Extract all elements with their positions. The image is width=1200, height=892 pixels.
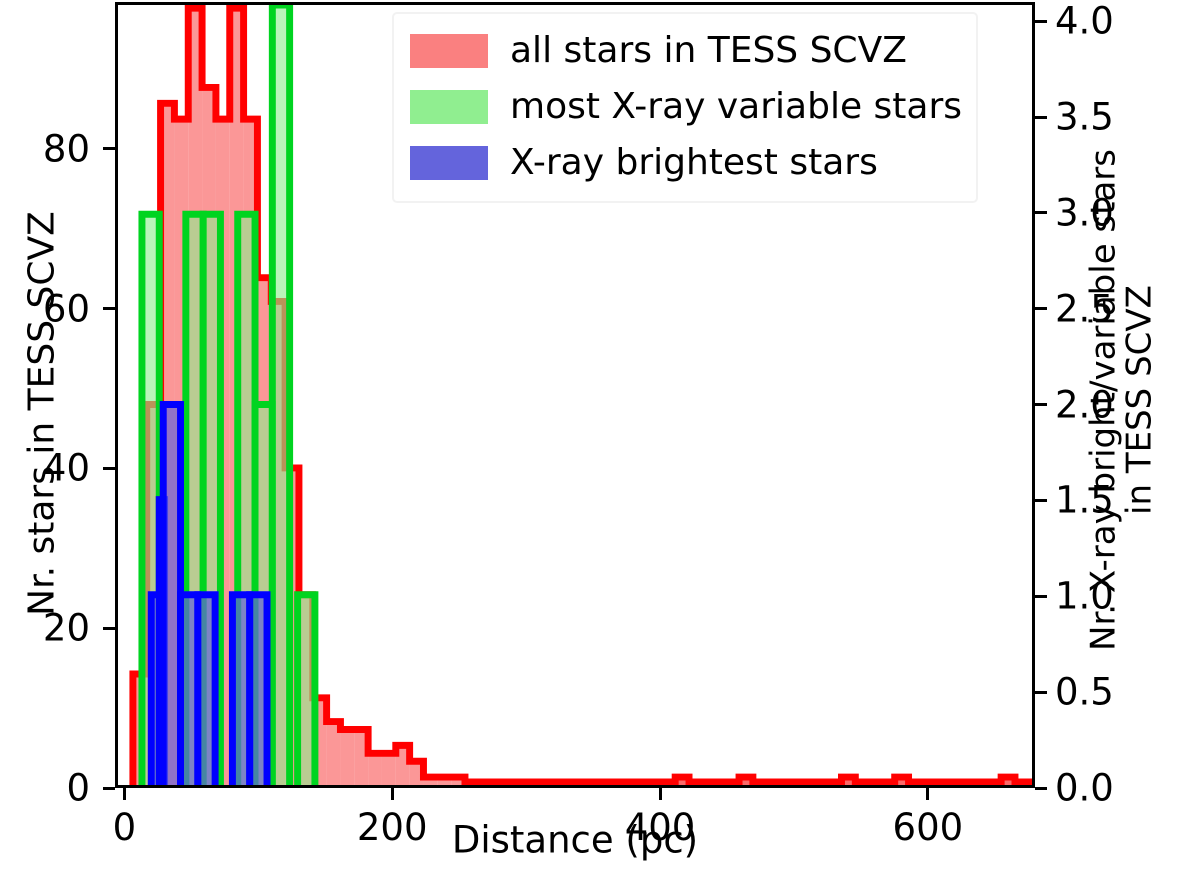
y-axis-right-tick-mark bbox=[1035, 20, 1047, 23]
x-axis-title: Distance (pc) bbox=[452, 819, 698, 862]
y-axis-right-tick-mark bbox=[1035, 307, 1047, 310]
y-axis-left-tick-label: 0 bbox=[0, 767, 90, 810]
legend-label-all-stars: all stars in TESS SCVZ bbox=[510, 33, 907, 69]
legend-swatch-xray-variable bbox=[410, 90, 488, 124]
y-axis-left-tick-label: 60 bbox=[0, 287, 90, 330]
histogram-figure: Nr. stars in TESS SCVZ 020406080 0.00.51… bbox=[0, 0, 1200, 892]
x-axis-tick-label: 0 bbox=[113, 806, 137, 849]
legend: all stars in TESS SCVZ most X-ray variab… bbox=[392, 12, 978, 203]
y-axis-right-title-line1: Nr. X-ray bright/variable stars bbox=[1086, 149, 1122, 651]
y-axis-right-tick-label: 0.5 bbox=[1055, 671, 1114, 714]
y-axis-right-tick-mark bbox=[1035, 403, 1047, 406]
y-axis-left-tick-mark bbox=[103, 147, 115, 150]
y-axis-right-tick-label: 0.0 bbox=[1055, 767, 1114, 810]
y-axis-right-title: Nr. X-ray bright/variable stars in TESS … bbox=[1086, 149, 1157, 651]
y-axis-right-tick-label: 4.0 bbox=[1055, 0, 1114, 43]
x-axis-tick-mark bbox=[926, 788, 929, 800]
y-axis-right-tick-mark bbox=[1035, 691, 1047, 694]
y-axis-right-tick-mark bbox=[1035, 595, 1047, 598]
y-axis-left-tick-mark bbox=[103, 467, 115, 470]
legend-label-xray-brightest: X-ray brightest stars bbox=[510, 145, 878, 181]
y-axis-right-tick-mark bbox=[1035, 787, 1047, 790]
legend-swatch-xray-brightest bbox=[410, 146, 488, 180]
x-axis-tick-label: 600 bbox=[893, 806, 964, 849]
x-axis-tick-mark bbox=[391, 788, 394, 800]
y-axis-left-tick-label: 20 bbox=[0, 607, 90, 650]
x-axis-tick-label: 200 bbox=[357, 806, 428, 849]
y-axis-right-title-line2: in TESS SCVZ bbox=[1122, 149, 1158, 651]
x-axis-tick-mark bbox=[123, 788, 126, 800]
bar-all-stars bbox=[382, 753, 396, 785]
y-axis-left-tick-mark bbox=[103, 787, 115, 790]
y-axis-left-tick-mark bbox=[103, 307, 115, 310]
y-axis-right-tick-label: 3.5 bbox=[1055, 96, 1114, 139]
legend-item[interactable]: most X-ray variable stars bbox=[410, 79, 962, 135]
legend-swatch-all-stars bbox=[410, 34, 488, 68]
bar-all-stars bbox=[368, 753, 382, 785]
x-axis-tick-mark bbox=[659, 788, 662, 800]
legend-item[interactable]: X-ray brightest stars bbox=[410, 135, 962, 191]
y-axis-right-tick-mark bbox=[1035, 211, 1047, 214]
bar-all-stars bbox=[340, 730, 354, 785]
y-axis-left-tick-mark bbox=[103, 627, 115, 630]
legend-label-xray-variable: most X-ray variable stars bbox=[510, 89, 962, 125]
y-axis-left-tick-label: 80 bbox=[0, 127, 90, 170]
y-axis-right-tick-mark bbox=[1035, 499, 1047, 502]
y-axis-left-tick-label: 40 bbox=[0, 447, 90, 490]
legend-item[interactable]: all stars in TESS SCVZ bbox=[410, 23, 962, 79]
y-axis-right-tick-mark bbox=[1035, 116, 1047, 119]
